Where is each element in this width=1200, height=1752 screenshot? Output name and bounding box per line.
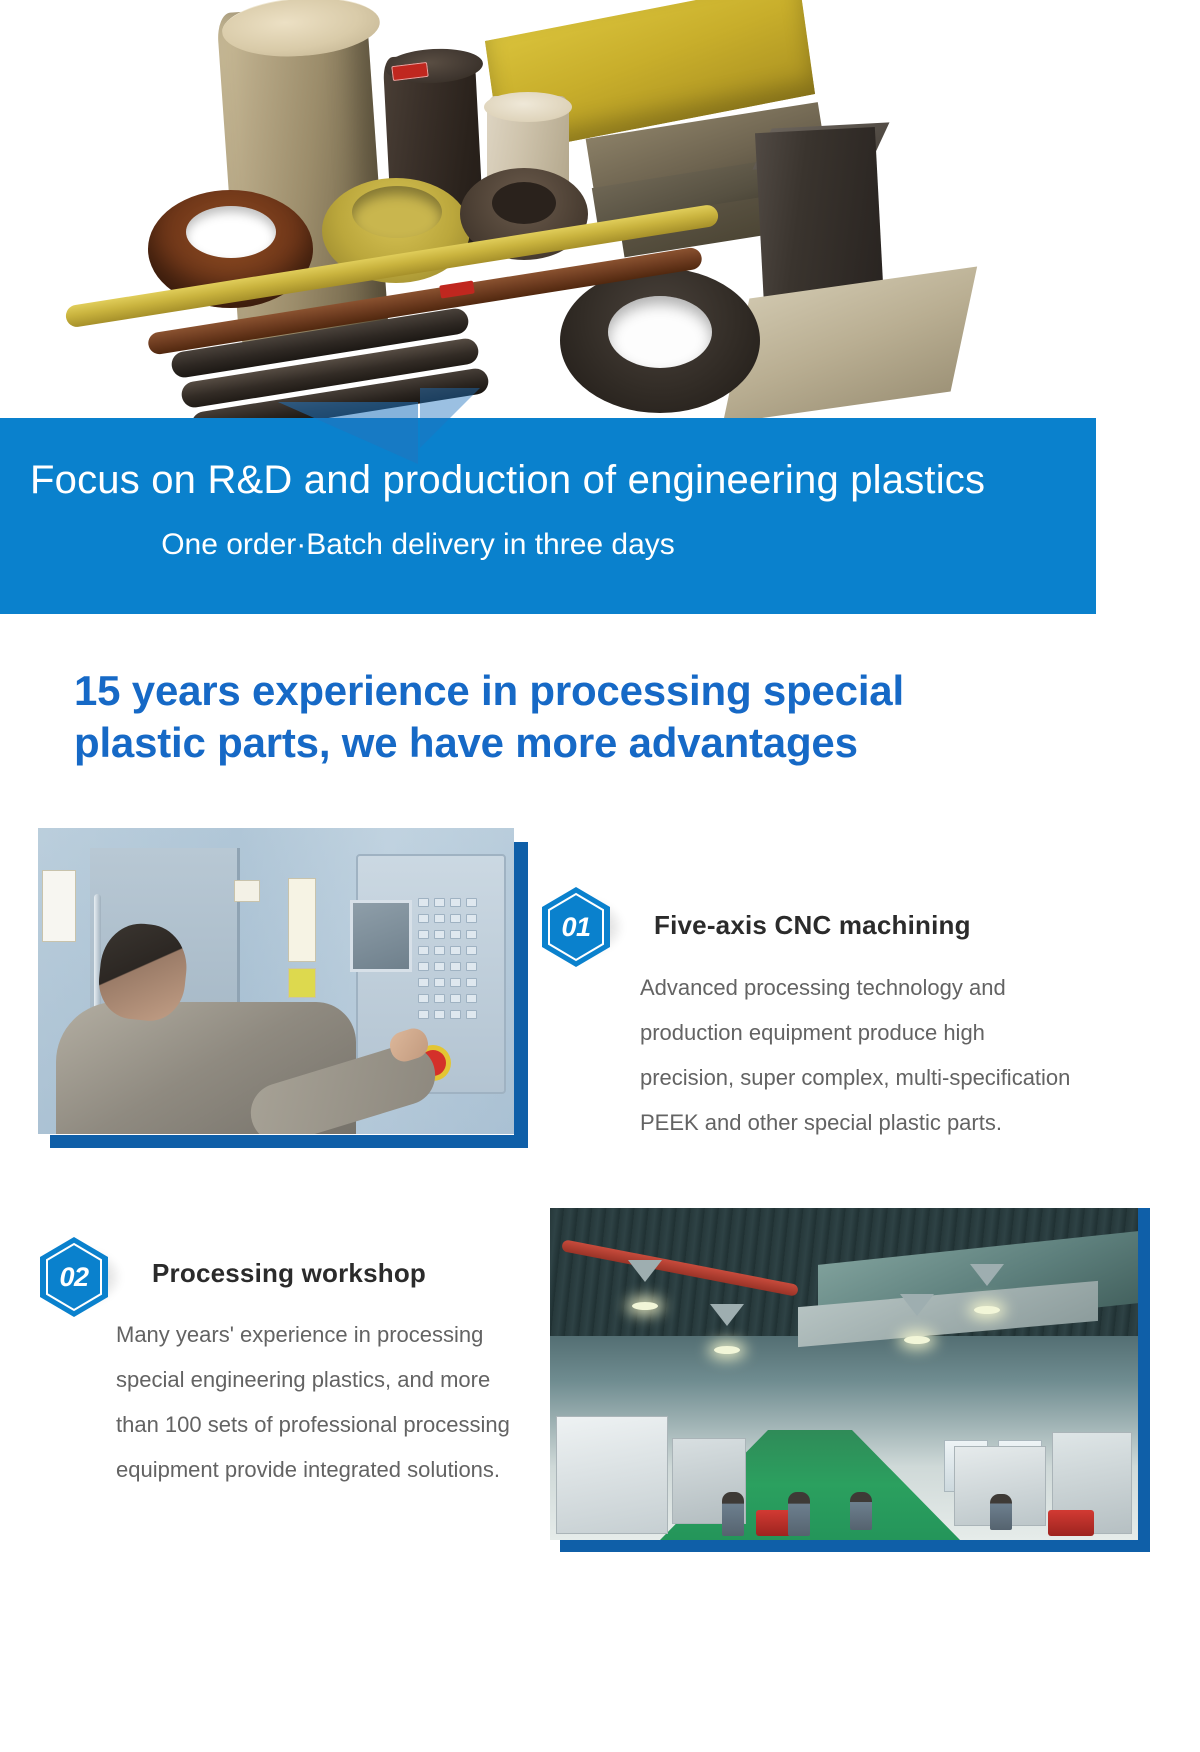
cnc-keypad [418, 898, 490, 1058]
cnc-wall-document [42, 870, 76, 942]
workshop-photo-frame [550, 1208, 1150, 1552]
section-heading-line-1: 15 years experience in processing specia… [74, 665, 1074, 717]
workshop-frame-accent-right [1137, 1208, 1150, 1552]
feature-badge-number-02: 02 [38, 1236, 110, 1318]
cnc-warning-sticker-3 [288, 968, 316, 998]
cnc-frame-accent-right [514, 842, 528, 1148]
banner-subheadline: One order·Batch delivery in three days [0, 528, 1096, 562]
feature-badge-number-01: 01 [540, 886, 612, 968]
dark-ring-bore [492, 182, 556, 224]
hero-product-photo [0, 0, 1200, 420]
workshop-machine-1 [556, 1416, 668, 1534]
banner-headline: Focus on R&D and production of engineeri… [0, 458, 1096, 503]
workshop-pendant-lamp-3 [900, 1294, 934, 1316]
cnc-warning-sticker-1 [234, 880, 260, 902]
hero-photo-content [0, 0, 1200, 420]
cnc-warning-sticker-2 [288, 878, 316, 962]
headline-banner: Focus on R&D and production of engineeri… [0, 418, 1096, 614]
workshop-worker-2 [788, 1492, 810, 1536]
workshop-worker-4 [990, 1494, 1012, 1530]
workshop-cart-2 [1048, 1510, 1094, 1536]
section-heading-line-2: plastic parts, we have more advantages [74, 717, 1074, 769]
workshop-worker-1 [722, 1492, 744, 1536]
workshop-pendant-lamp-2 [710, 1304, 744, 1326]
feature-badge-02: 02 [38, 1236, 110, 1318]
feature-title-01: Five-axis CNC machining [654, 910, 971, 941]
cnc-photo-frame [38, 828, 528, 1148]
feature-body-02: Many years' experience in processing spe… [116, 1312, 526, 1492]
large-ring-bore [608, 296, 712, 368]
beige-plastic-sheet [723, 267, 977, 420]
cream-cylinder-top-face [484, 92, 572, 122]
feature-badge-01: 01 [540, 886, 612, 968]
banner-triangle-decoration-2 [420, 388, 480, 448]
workshop-frame-accent-bottom [560, 1540, 1150, 1552]
yellow-ring-bore [352, 186, 442, 238]
section-heading: 15 years experience in processing specia… [74, 665, 1074, 769]
cnc-screen [350, 900, 412, 972]
workshop-pendant-lamp-1 [628, 1260, 662, 1282]
workshop-photo [550, 1208, 1138, 1540]
product-detail-page: Focus on R&D and production of engineeri… [0, 0, 1200, 1752]
cnc-frame-accent-bottom [50, 1135, 528, 1148]
workshop-worker-3 [850, 1492, 872, 1530]
workshop-pendant-lamp-4 [970, 1264, 1004, 1286]
cnc-machining-photo [38, 828, 514, 1134]
brown-ring-bore [186, 206, 276, 258]
feature-body-01: Advanced processing technology and produ… [640, 965, 1080, 1145]
feature-title-02: Processing workshop [152, 1258, 426, 1289]
banner-triangle-decoration-1 [278, 402, 418, 464]
